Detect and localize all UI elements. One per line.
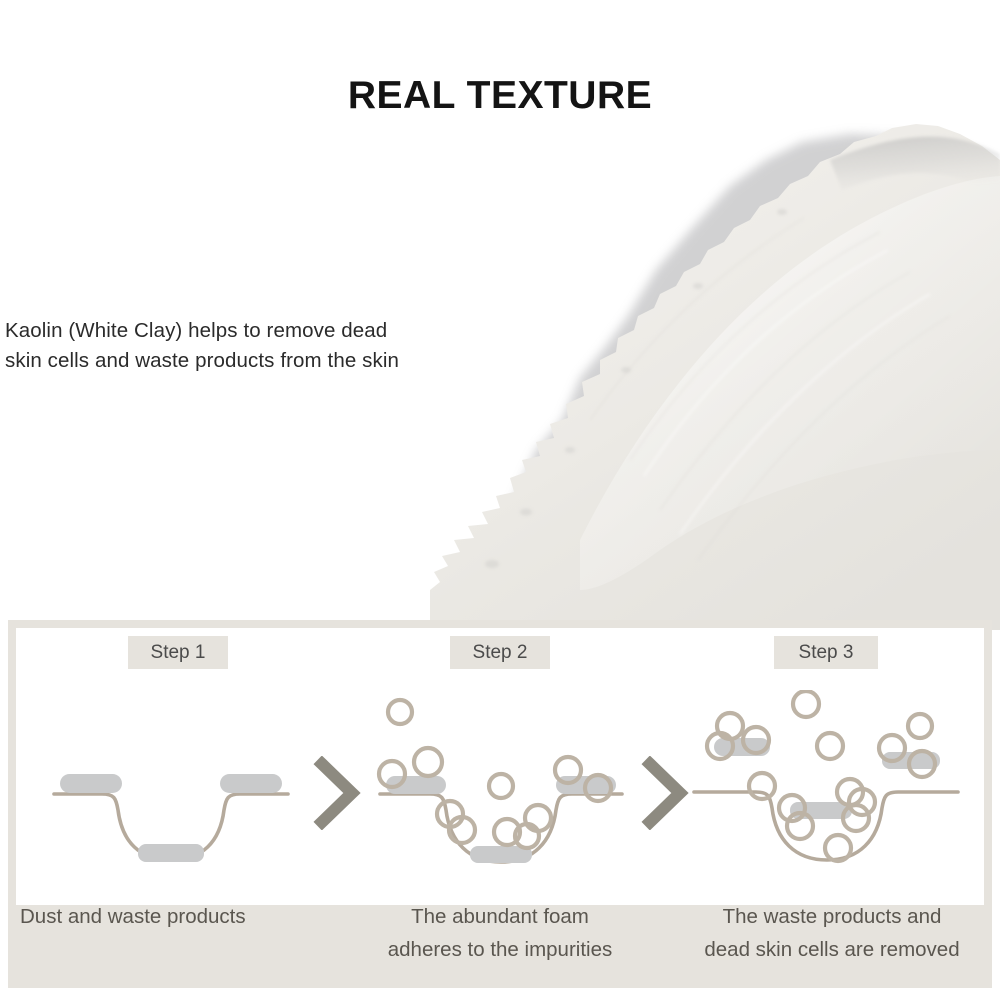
step-badge-1: Step 1 <box>128 636 228 669</box>
step-3-illustration <box>690 690 962 875</box>
step-1-caption-line-1: Dust and waste products <box>20 900 320 933</box>
step-3-caption-line-2: dead skin cells are removed <box>672 933 992 966</box>
chevron-right-icon-2 <box>636 756 692 830</box>
kaolin-description-line-1: Kaolin (White Clay) helps to remove dead <box>5 316 485 346</box>
step-1-illustration <box>40 690 302 875</box>
clay-texture-image <box>430 120 1000 630</box>
kaolin-description-line-2: skin cells and waste products from the s… <box>5 346 485 376</box>
page-title: REAL TEXTURE <box>0 74 1000 118</box>
step-badge-2: Step 2 <box>450 636 550 669</box>
chevron-right-icon-1 <box>308 756 364 830</box>
infographic-page: REAL TEXTURE Kaolin (White Clay) helps t… <box>0 0 1000 1000</box>
step-2-caption: The abundant foam adheres to the impurit… <box>340 900 660 966</box>
step-badge-3: Step 3 <box>774 636 878 669</box>
kaolin-description: Kaolin (White Clay) helps to remove dead… <box>5 316 485 376</box>
step-2-caption-line-1: The abundant foam <box>340 900 660 933</box>
step-3-caption-line-1: The waste products and <box>672 900 992 933</box>
step-2-caption-line-2: adheres to the impurities <box>340 933 660 966</box>
step-2-illustration <box>370 690 632 875</box>
step-3-caption: The waste products and dead skin cells a… <box>672 900 992 966</box>
step-1-caption: Dust and waste products <box>20 900 320 933</box>
